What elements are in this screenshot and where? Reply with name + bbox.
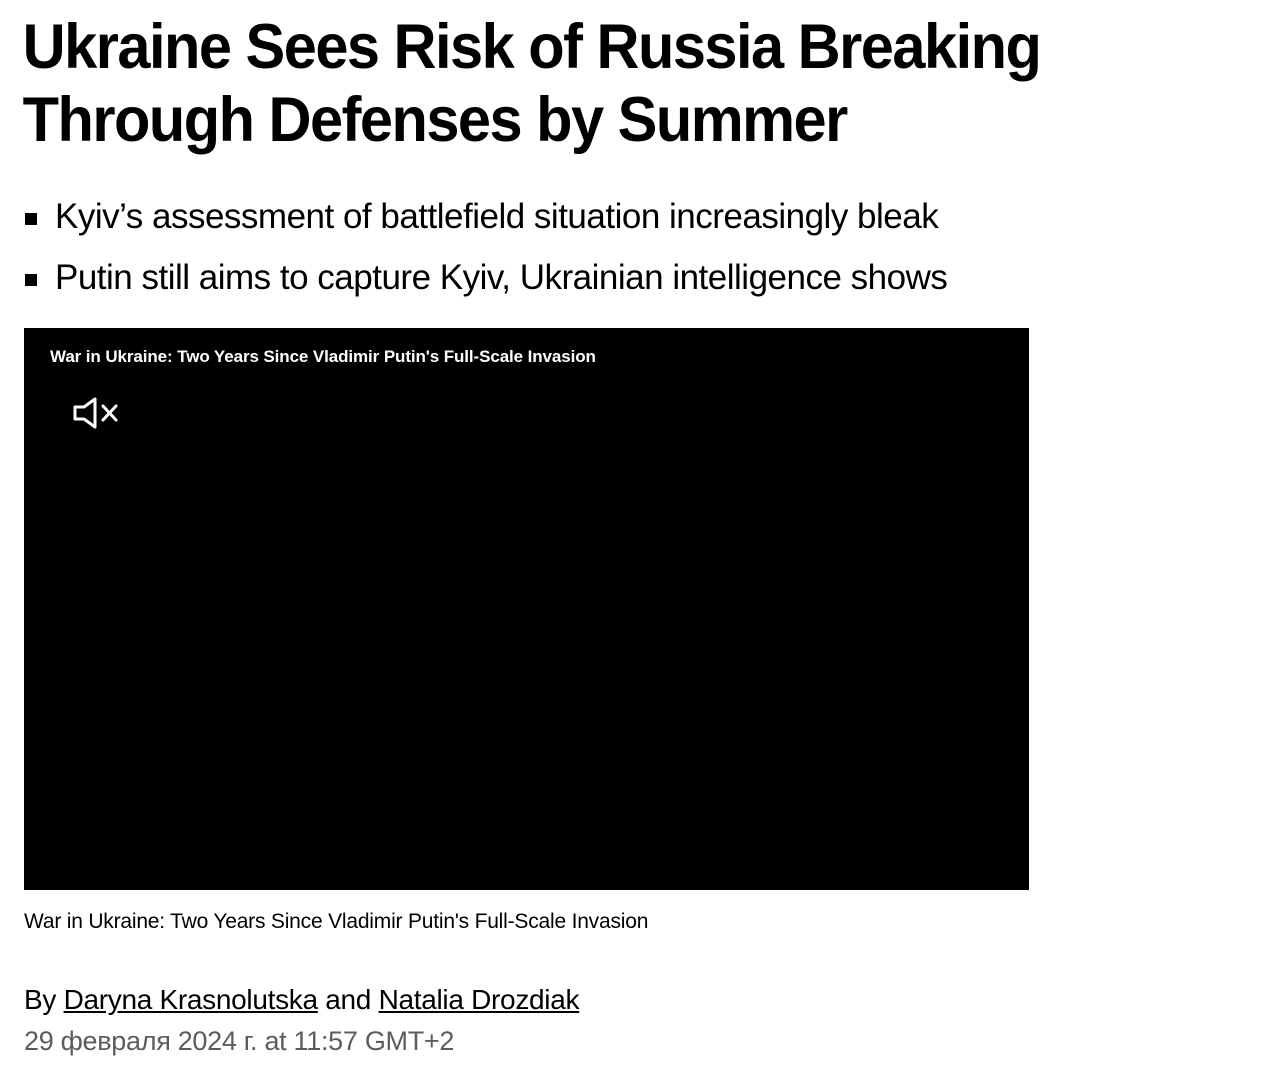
publish-timestamp: 29 февраля 2024 г. at 11:57 GMT+2 [0, 1023, 1280, 1059]
video-section: War in Ukraine: Two Years Since Vladimir… [0, 328, 1280, 890]
list-item: Putin still aims to capture Kyiv, Ukrain… [24, 247, 1256, 308]
square-bullet-icon [25, 274, 37, 286]
summary-point-text: Putin still aims to capture Kyiv, Ukrain… [55, 258, 947, 297]
video-caption: War in Ukraine: Two Years Since Vladimir… [0, 908, 1280, 936]
speaker-muted-icon[interactable] [71, 387, 127, 433]
summary-bullet-list: Kyiv’s assessment of battlefield situati… [0, 186, 1280, 308]
square-bullet-icon [25, 213, 37, 225]
byline: By Daryna Krasnolutska and Natalia Drozd… [0, 982, 1280, 1018]
author-link-one[interactable]: Daryna Krasnolutska [64, 984, 318, 1015]
byline-conjunction: and [325, 984, 371, 1015]
video-overlay-title: War in Ukraine: Two Years Since Vladimir… [50, 347, 596, 367]
page-title: Ukraine Sees Risk of Russia Breaking Thr… [0, 0, 1210, 157]
article-container: Ukraine Sees Risk of Russia Breaking Thr… [0, 0, 1280, 1092]
byline-prefix: By [24, 984, 56, 1015]
video-player[interactable]: War in Ukraine: Two Years Since Vladimir… [24, 328, 1029, 890]
author-link-two[interactable]: Natalia Drozdiak [379, 984, 580, 1015]
list-item: Kyiv’s assessment of battlefield situati… [24, 186, 1256, 247]
summary-point-text: Kyiv’s assessment of battlefield situati… [55, 197, 938, 236]
